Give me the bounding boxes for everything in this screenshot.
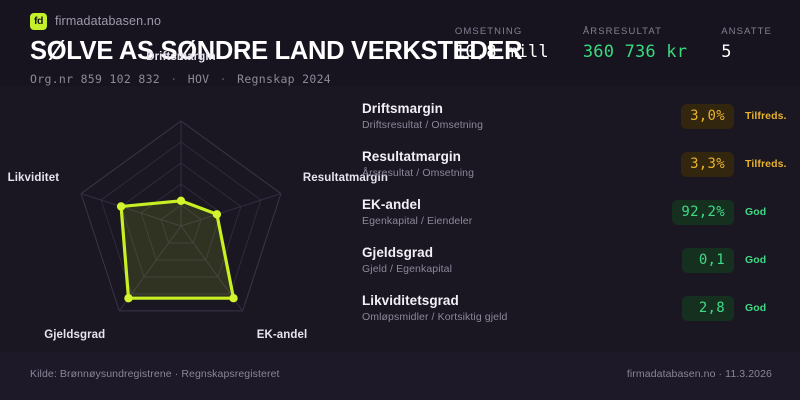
header: fd firmadatabasen.no SØLVE AS SØNDRE LAN… xyxy=(0,0,800,86)
radar-axis-label-gjeldsgrad: Gjeldsgrad xyxy=(0,329,105,341)
metric-value-badge: 92,2% xyxy=(672,200,734,225)
metric-text: Likviditetsgrad Omløpsmidler / Kortsikti… xyxy=(362,293,682,323)
kpi-label: ANSATTE xyxy=(721,26,772,37)
brand-name: firmadatabasen.no xyxy=(55,14,161,28)
table-row: Resultatmargin Årsresultat / Omsetning 3… xyxy=(362,144,800,184)
firmadatabasen-logo-icon: fd xyxy=(30,13,47,30)
company-accounting-year: Regnskap 2024 xyxy=(237,72,331,86)
metric-formula: Årsresultat / Omsetning xyxy=(362,167,681,179)
kpi-label: OMSETNING xyxy=(455,26,549,37)
kpi-ansatte: ANSATTE 5 xyxy=(721,26,772,62)
kpi-label: ÅRSRESULTAT xyxy=(583,26,687,37)
metric-name: Resultatmargin xyxy=(362,149,681,164)
metric-text: Gjeldsgrad Gjeld / Egenkapital xyxy=(362,245,682,275)
company-key-figures-card: fd firmadatabasen.no SØLVE AS SØNDRE LAN… xyxy=(0,0,800,400)
table-row: Likviditetsgrad Omløpsmidler / Kortsikti… xyxy=(362,288,800,328)
metric-formula: Omløpsmidler / Kortsiktig gjeld xyxy=(362,311,682,323)
kpi-value: 360 736 kr xyxy=(583,42,687,62)
kpi-omsetning: OMSETNING 10,8 mill xyxy=(455,26,549,62)
meta-separator-1: · xyxy=(167,72,180,86)
footer-attribution: firmadatabasen.no · 11.3.2026 xyxy=(627,368,772,380)
footer: Kilde: Brønnøysundregistrene · Regnskaps… xyxy=(0,352,800,400)
radar-chart: Driftsmargin Resultatmargin EK-andel Gje… xyxy=(0,86,360,352)
body: Driftsmargin Resultatmargin EK-andel Gje… xyxy=(0,86,800,352)
meta-separator-2: · xyxy=(217,72,230,86)
radar-axis-label-ek-andel: EK-andel xyxy=(257,329,308,341)
table-row: Driftsmargin Driftsresultat / Omsetning … xyxy=(362,96,800,136)
radar-chart-svg xyxy=(0,86,360,352)
metric-name: Gjeldsgrad xyxy=(362,245,682,260)
metric-value-badge: 0,1 xyxy=(682,248,734,273)
status-badge: God xyxy=(734,206,800,218)
metric-name: Driftsmargin xyxy=(362,101,681,116)
table-row: EK-andel Egenkapital / Eiendeler 92,2% G… xyxy=(362,192,800,232)
metric-value-badge: 2,8 xyxy=(682,296,734,321)
table-row: Gjeldsgrad Gjeld / Egenkapital 0,1 God xyxy=(362,240,800,280)
footer-source: Kilde: Brønnøysundregistrene · Regnskaps… xyxy=(30,368,280,380)
status-badge: Tilfreds. xyxy=(734,158,800,170)
metric-text: EK-andel Egenkapital / Eiendeler xyxy=(362,197,672,227)
metrics-list: Driftsmargin Driftsresultat / Omsetning … xyxy=(362,96,800,336)
status-badge: God xyxy=(734,254,800,266)
company-meta: Org.nr 859 102 832 · HOV · Regnskap 2024 xyxy=(30,72,772,86)
metric-formula: Gjeld / Egenkapital xyxy=(362,263,682,275)
company-orgnr: Org.nr 859 102 832 xyxy=(30,72,160,86)
metric-value-badge: 3,3% xyxy=(681,152,734,177)
metric-text: Resultatmargin Årsresultat / Omsetning xyxy=(362,149,681,179)
company-place: HOV xyxy=(188,72,210,86)
metric-value-badge: 3,0% xyxy=(681,104,734,129)
kpi-value: 5 xyxy=(721,42,772,62)
metric-formula: Egenkapital / Eiendeler xyxy=(362,215,672,227)
kpi-value: 10,8 mill xyxy=(455,42,549,62)
metric-text: Driftsmargin Driftsresultat / Omsetning xyxy=(362,101,681,131)
status-badge: Tilfreds. xyxy=(734,110,800,122)
kpi-group: OMSETNING 10,8 mill ÅRSRESULTAT 360 736 … xyxy=(455,26,772,62)
metric-name: Likviditetsgrad xyxy=(362,293,682,308)
metric-name: EK-andel xyxy=(362,197,672,212)
radar-axis-label-driftsmargin: Driftsmargin xyxy=(0,51,362,63)
metric-formula: Driftsresultat / Omsetning xyxy=(362,119,681,131)
status-badge: God xyxy=(734,302,800,314)
radar-axis-label-likviditet: Likviditet xyxy=(0,172,59,184)
kpi-arsresultat: ÅRSRESULTAT 360 736 kr xyxy=(583,26,687,62)
